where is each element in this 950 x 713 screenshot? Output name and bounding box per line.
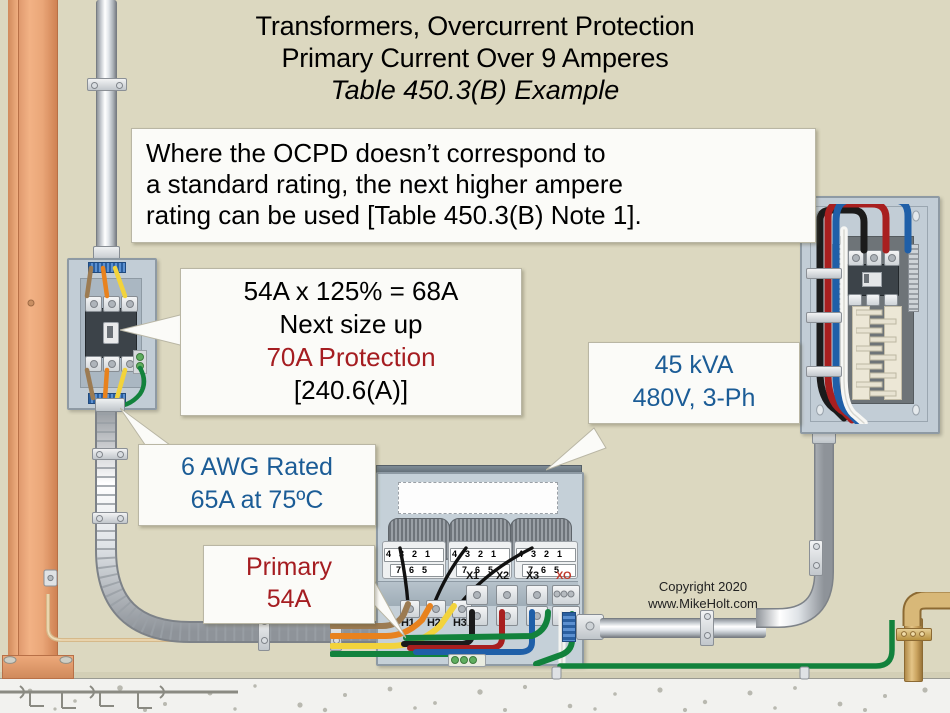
title-line-1: Transformers, Overcurrent Protection — [0, 10, 950, 42]
gec-clamp-2-icon — [796, 665, 814, 683]
copyright-line-1: Copyright 2020 — [608, 578, 798, 595]
kva-line-1: 45 kVA — [599, 349, 789, 382]
note-line-1: Where the OCPD doesn’t correspond to — [146, 138, 801, 169]
calc-line-2: Next size up — [191, 308, 511, 341]
note-line-3: rating can be used [Table 450.3(B) Note … — [146, 200, 801, 231]
label-xo: XO — [556, 570, 571, 582]
note-line-2: a standard rating, the next higher amper… — [146, 169, 801, 200]
conduit-strap-right-1 — [809, 540, 823, 576]
primary-line-1: Primary — [214, 551, 364, 583]
diagram-canvas: 4 3 2 1 7 6 5 4 3 2 1 7 6 5 4 3 2 1 7 6 … — [0, 0, 950, 713]
xo-screw-holes-icon — [553, 589, 577, 600]
calc-line-4-reference: [240.6(A)] — [191, 374, 511, 407]
pipe-clamp-bolts-icon — [899, 630, 927, 638]
title-line-2: Primary Current Over 9 Amperes — [0, 42, 950, 74]
water-pipe-elbow — [896, 592, 950, 628]
flex-strap-2 — [92, 512, 128, 524]
label-x3: X3 — [526, 570, 539, 582]
ocpd-note-box: Where the OCPD doesn’t correspond to a s… — [131, 128, 816, 243]
label-x1: X1 — [466, 570, 479, 582]
copyright-line-2: www.MikeHolt.com — [608, 595, 798, 612]
awg-line-1: 6 AWG Rated — [149, 451, 365, 484]
page-title: Transformers, Overcurrent Protection Pri… — [0, 10, 950, 106]
panel-wire-tie-3 — [806, 366, 842, 377]
calc-line-1: 54A x 125% = 68A — [191, 275, 511, 308]
calc-line-3-protection: 70A Protection — [191, 341, 511, 374]
title-line-3: Table 450.3(B) Example — [0, 74, 950, 106]
conductor-rating-box: 6 AWG Rated 65A at 75ºC — [138, 444, 376, 526]
kva-line-2: 480V, 3-Ph — [599, 382, 789, 415]
primary-line-2: 54A — [214, 583, 364, 615]
grounding-electrode-conductor — [440, 620, 930, 690]
gec-clamp-1-icon — [548, 665, 566, 683]
panel-wire-tie-2 — [806, 312, 842, 323]
rebar-icon — [0, 680, 240, 713]
panel-wire-tie-1 — [806, 268, 842, 279]
transformer-rating-box: 45 kVA 480V, 3-Ph — [588, 342, 800, 424]
copyright-notice: Copyright 2020 www.MikeHolt.com — [608, 578, 798, 612]
column-bolt-icon — [22, 295, 40, 311]
transformer-nameplate — [398, 482, 558, 514]
calculation-box: 54A x 125% = 68A Next size up 70A Protec… — [180, 268, 522, 416]
awg-line-2: 65A at 75ºC — [149, 484, 365, 517]
label-x2: X2 — [496, 570, 509, 582]
primary-current-box: Primary 54A — [203, 545, 375, 624]
ground-clamp-icon — [40, 568, 62, 594]
